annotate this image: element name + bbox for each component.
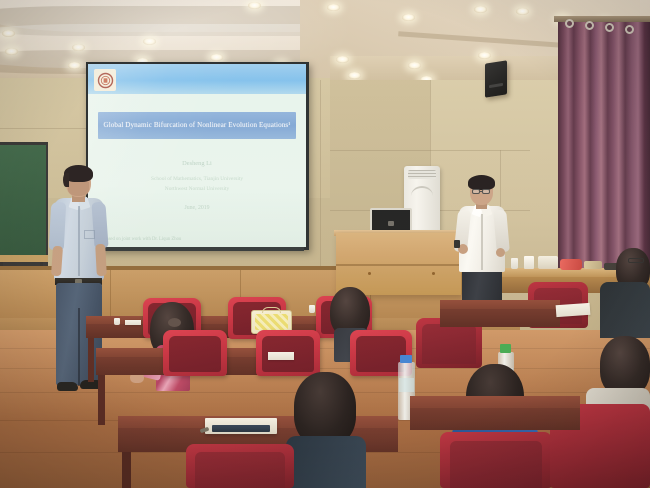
wall-seam [320, 80, 321, 270]
plastic-bag [538, 256, 558, 269]
presenter-right-arm [493, 210, 510, 253]
downlight [143, 38, 156, 45]
desk-front [440, 309, 560, 327]
notebook-cover [212, 425, 270, 432]
desk [410, 396, 580, 408]
fruit-bag [560, 259, 582, 270]
downlight [210, 54, 223, 61]
paper-cup [309, 305, 315, 313]
downlight [5, 48, 18, 55]
downlight [2, 30, 15, 37]
downlight [327, 4, 340, 11]
chalk-tray [0, 255, 48, 262]
seat-cushion [450, 441, 542, 488]
wall-seam [330, 150, 530, 151]
glasses-icon [482, 189, 490, 194]
paper-sheet [268, 352, 294, 360]
glasses-bridge [480, 191, 483, 192]
audience-torso [600, 282, 650, 338]
downlight [402, 14, 415, 21]
bottle-label [399, 378, 414, 392]
glasses-icon [628, 258, 644, 263]
lecture-hall-photo: Global Dynamic Bifurcation of Nonlinear … [0, 0, 650, 488]
screen-bottom-bar [90, 247, 304, 251]
downlight [248, 2, 261, 9]
shirt-placket [78, 206, 80, 276]
auditorium-seat[interactable] [186, 444, 294, 488]
seat-cushion [169, 336, 221, 372]
presenter-left-forearm [95, 244, 107, 276]
monitor-logo [388, 221, 394, 226]
snack-box [524, 256, 534, 269]
desk-leg [122, 452, 131, 488]
downlight [336, 56, 349, 63]
curtain-grommet [565, 19, 574, 28]
bottle-cap [400, 355, 412, 363]
handbag-pattern [255, 314, 288, 330]
downlight [478, 52, 491, 59]
downlight [408, 62, 421, 69]
presenter-left-arm [91, 202, 108, 249]
podium-seam [336, 264, 461, 266]
seat-cushion [195, 452, 285, 488]
presenter-left-hair [63, 173, 69, 187]
podium-knob [368, 272, 371, 275]
podium-knob [432, 272, 435, 275]
downlight [68, 62, 81, 69]
slide-title: Global Dynamic Bifurcation of Nonlinear … [103, 121, 290, 131]
shirt-pocket [84, 230, 95, 239]
downlight [474, 6, 487, 13]
paper-sheet [556, 303, 591, 317]
hair-tie [168, 318, 181, 327]
presenter-left-forearm [51, 246, 63, 277]
seat-cushion [422, 324, 476, 364]
shirt-placket [481, 214, 483, 270]
slide-author: Desheng Li [88, 160, 306, 167]
curtain-grommet [625, 25, 634, 34]
curtain-grommet [585, 21, 594, 30]
curtain-grommet [605, 23, 614, 32]
paper-cup [114, 318, 120, 325]
slide-title-box: Global Dynamic Bifurcation of Nonlinear … [98, 112, 296, 139]
glasses-icon [472, 189, 480, 194]
trouser-seam [78, 308, 80, 386]
face-shading [68, 182, 89, 196]
audience-head [294, 372, 356, 446]
wall-speaker-icon [485, 60, 507, 97]
university-emblem-icon [94, 69, 116, 91]
green-chalkboard [0, 145, 46, 255]
desk-leg [88, 338, 94, 382]
ac-vent-grille [408, 170, 436, 179]
auditorium-seat[interactable] [163, 330, 227, 376]
bottle-cap [500, 344, 511, 353]
wall-seam [0, 128, 90, 129]
audience-torso [286, 436, 366, 488]
desk [440, 300, 560, 309]
presenter-right-hair [468, 175, 495, 190]
handbag-handle [262, 307, 281, 313]
downlight [516, 8, 529, 15]
presenter-left-arm [49, 202, 66, 251]
presenter-remote[interactable] [454, 240, 460, 248]
desk-leg [98, 375, 105, 425]
presenter-right [456, 178, 518, 308]
presenter-right-hand [496, 248, 505, 257]
downlight [348, 72, 361, 79]
auditorium-seat[interactable] [440, 432, 552, 488]
audience-head [600, 336, 650, 396]
paper-sheet [125, 320, 141, 325]
slide-top-band [88, 64, 306, 94]
desk-front [410, 408, 580, 430]
shoe [57, 382, 78, 391]
downlight [72, 44, 85, 51]
snack-pack [584, 261, 602, 269]
